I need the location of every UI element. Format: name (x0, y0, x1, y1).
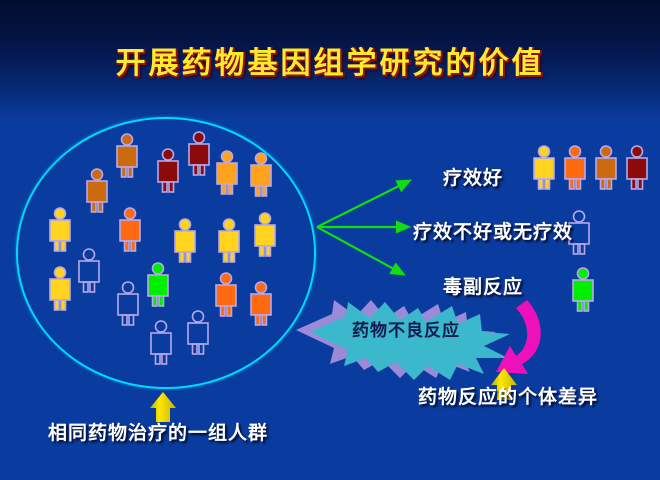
person-outline-4 (185, 310, 211, 356)
population-caption: 相同药物治疗的一组人群 (48, 418, 268, 445)
outcome-label-toxicity: 毒副反应 (443, 272, 523, 299)
person-outline-1 (76, 248, 102, 294)
person-orange-1 (117, 207, 143, 253)
person-dark-red-1 (155, 148, 181, 194)
person-outline-3 (148, 320, 174, 366)
person-orange-light-1 (214, 150, 240, 196)
slide-canvas: 开展药物基因组学研究的价值 药物不良反应 (0, 0, 660, 480)
person-yellow-5 (47, 266, 73, 312)
adverse-reaction-label: 药物不良反应 (352, 316, 460, 341)
person-orange-3 (248, 281, 274, 327)
page-title: 开展药物基因组学研究的价值 (0, 38, 660, 82)
person-orange-light-2 (248, 152, 274, 198)
person-outcome-dark-red (624, 145, 650, 191)
person-outline-2 (115, 281, 141, 327)
person-outcome-dark-orange (593, 145, 619, 191)
person-yellow-3 (216, 218, 242, 264)
person-outcome-yellow (531, 145, 557, 191)
person-dark-orange-2 (114, 133, 140, 179)
person-yellow-1 (47, 207, 73, 253)
person-dark-red-2 (186, 131, 212, 177)
person-orange-2 (213, 272, 239, 318)
person-yellow-4 (252, 212, 278, 258)
person-dark-orange-1 (84, 168, 110, 214)
person-green-1 (145, 262, 171, 308)
outcome-label-good-efficacy: 疗效好 (443, 163, 503, 190)
individual-difference-label: 药物反应的个体差异 (418, 382, 598, 409)
outcome-label-poor-efficacy: 疗效不好或无疗效 (413, 217, 573, 244)
person-outcome-green (570, 267, 596, 313)
person-outcome-orange (562, 145, 588, 191)
person-yellow-2 (172, 218, 198, 264)
